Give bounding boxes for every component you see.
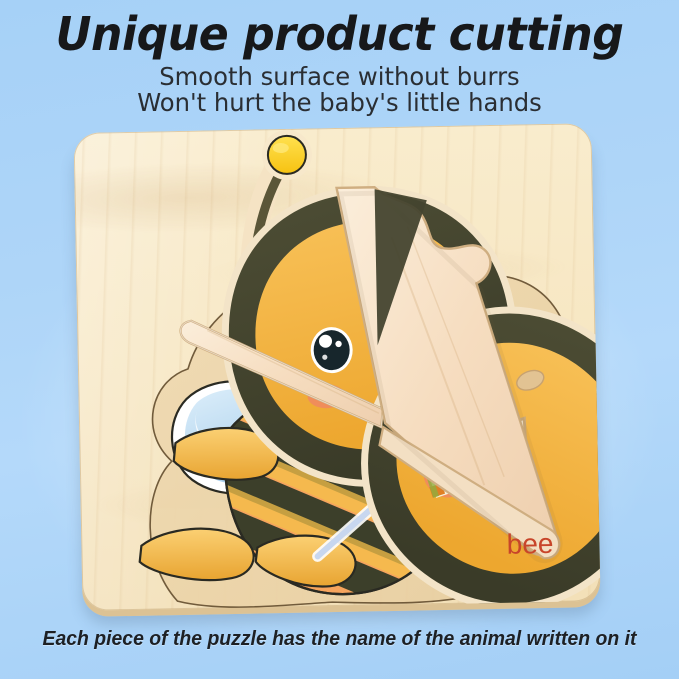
subtitle-line-2: Won't hurt the baby's little hands: [10, 89, 669, 116]
footer-caption: Each piece of the puzzle has the name of…: [10, 628, 669, 651]
page-title: Unique product cutting: [14, 8, 666, 60]
subtitle-line-1: Smooth surface without burrs: [10, 63, 669, 90]
wooden-puzzle-board[interactable]: bee: [73, 123, 600, 611]
animal-name-label: bee: [506, 528, 553, 561]
product-image: Unique product cutting Smooth surface wi…: [0, 0, 679, 679]
